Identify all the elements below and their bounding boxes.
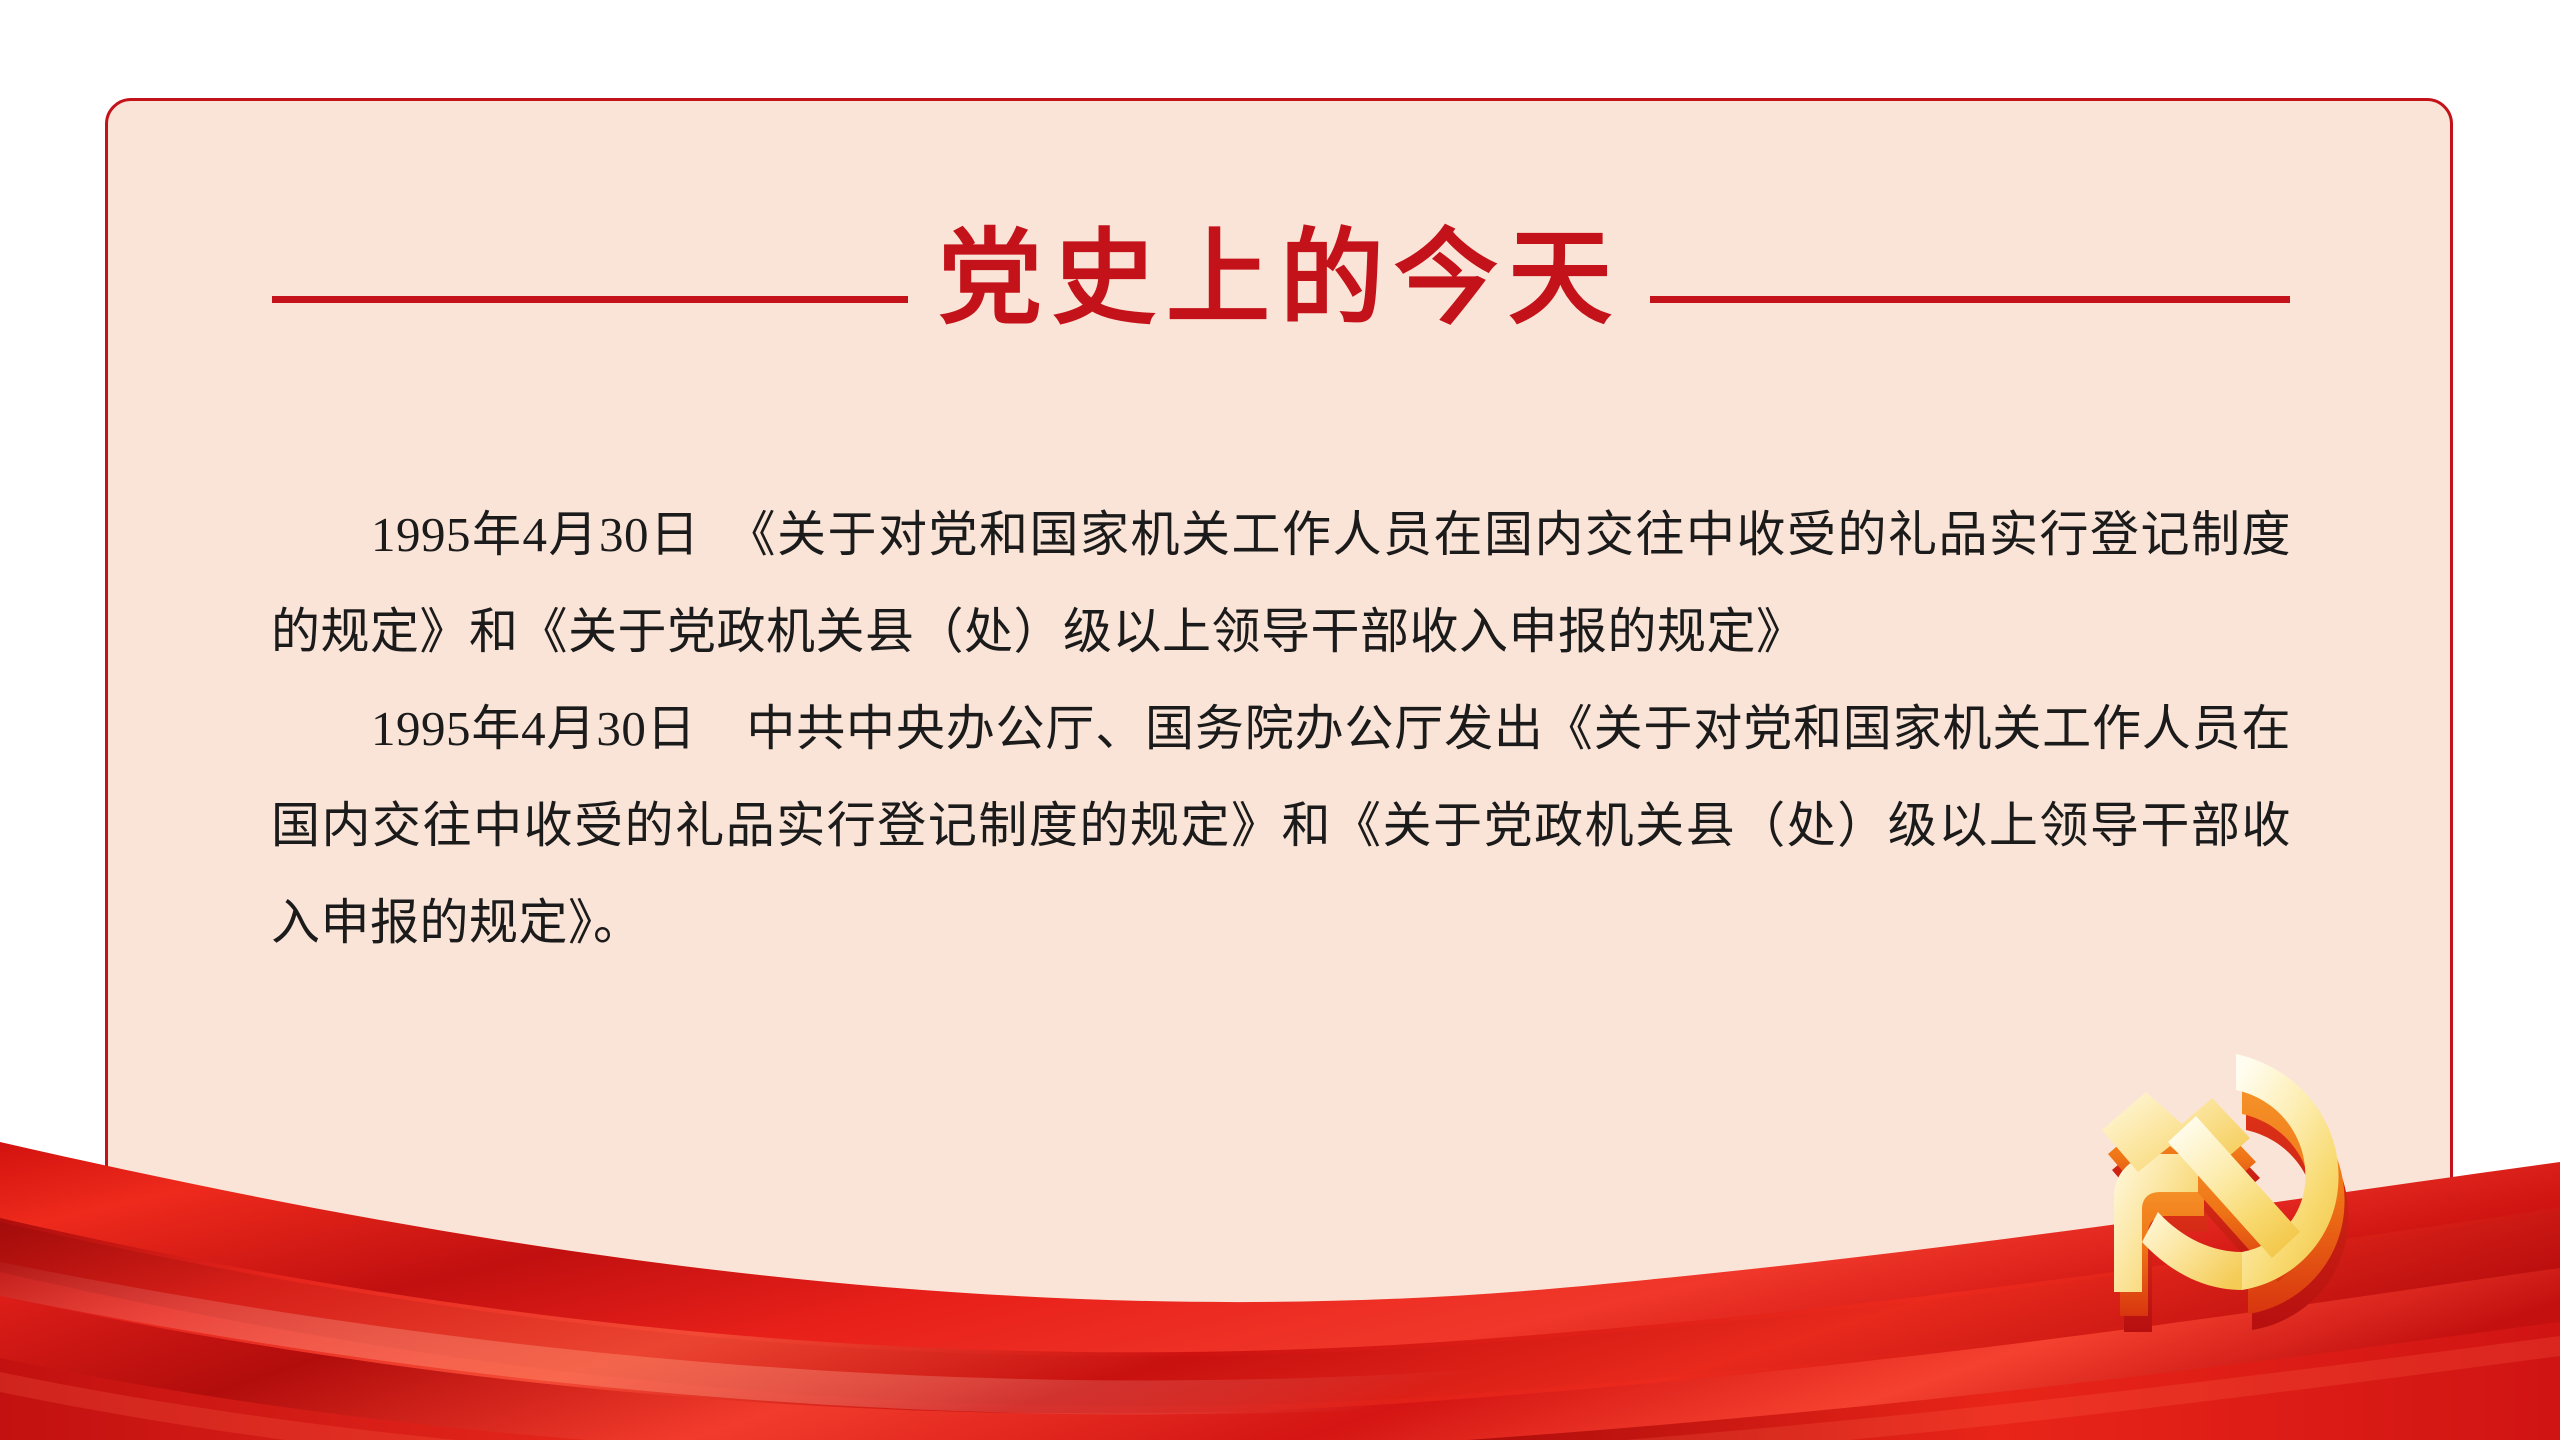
content-card: 党史上的今天 1995年4月30日 《关于对党和国家机关工作人员在国内交往中收受… (105, 98, 2453, 1388)
page-title: 党史上的今天 (938, 215, 1620, 345)
title-rule-left-decoration (272, 296, 908, 303)
title-block: 党史上的今天 (108, 233, 2453, 363)
paragraph-2: 1995年4月30日 中共中央办公厅、国务院办公厅发出《关于对党和国家机关工作人… (271, 680, 2291, 971)
poster-stage: 党史上的今天 1995年4月30日 《关于对党和国家机关工作人员在国内交往中收受… (0, 0, 2560, 1440)
paragraph-1: 1995年4月30日 《关于对党和国家机关工作人员在国内交往中收受的礼品实行登记… (271, 486, 2291, 680)
title-rule-right-decoration (1650, 296, 2290, 303)
article-body: 1995年4月30日 《关于对党和国家机关工作人员在国内交往中收受的礼品实行登记… (271, 486, 2291, 971)
